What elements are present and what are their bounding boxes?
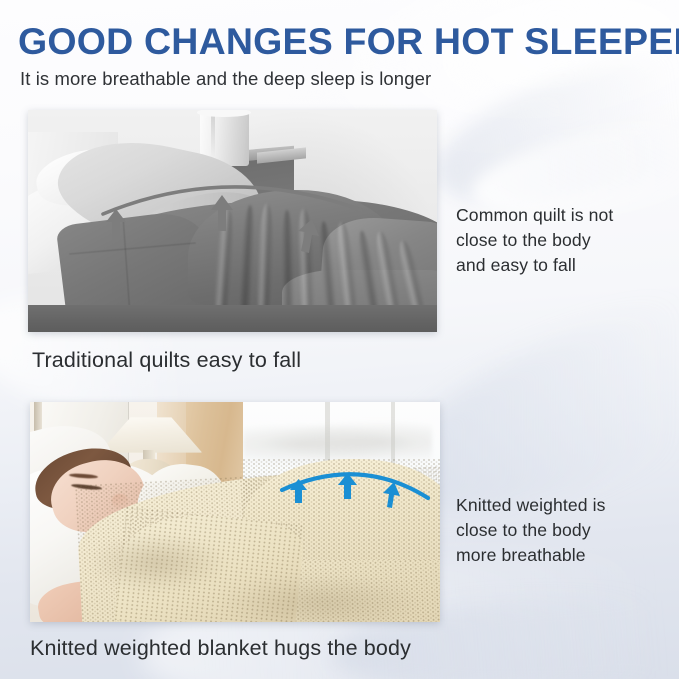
page-title: GOOD CHANGES FOR HOT SLEEPER: [0, 22, 679, 61]
traditional-side-caption: Common quilt is not close to the body an…: [456, 203, 613, 278]
traditional-bottom-caption: Traditional quilts easy to fall: [32, 348, 301, 373]
knitted-bottom-caption: Knitted weighted blanket hugs the body: [30, 636, 411, 661]
header-block: GOOD CHANGES FOR HOT SLEEPER It is more …: [0, 0, 679, 90]
infographic-canvas: GOOD CHANGES FOR HOT SLEEPER It is more …: [0, 0, 679, 679]
page-subtitle: It is more breathable and the deep sleep…: [0, 61, 679, 90]
knitted-blanket-photo: [30, 402, 440, 622]
knitted-side-caption: Knitted weighted is close to the body mo…: [456, 493, 606, 568]
knitted-blanket-scene: [30, 402, 440, 622]
traditional-quilt-scene: [28, 110, 437, 332]
traditional-quilt-photo: [28, 110, 437, 332]
